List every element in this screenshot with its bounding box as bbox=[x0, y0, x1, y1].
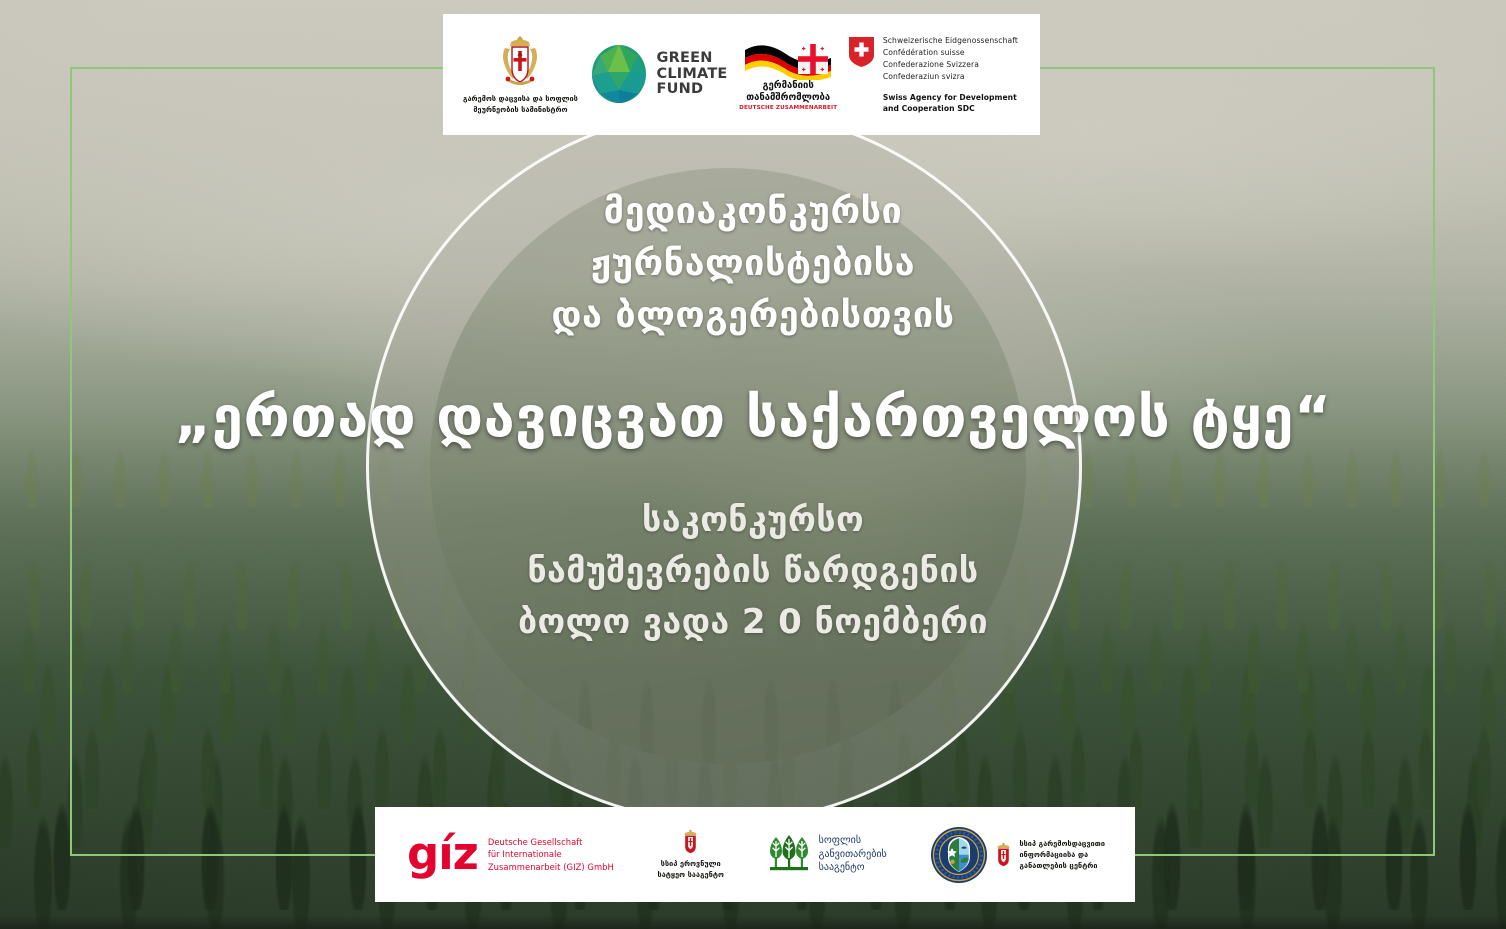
three-trees-icon bbox=[768, 835, 810, 875]
deadline-line2: ნამუშევრების წარდგენის bbox=[0, 546, 1506, 597]
gcf-line2: CLIMATE bbox=[657, 67, 728, 82]
logo-green-climate-fund: GREEN CLIMATE FUND bbox=[590, 44, 728, 106]
ministry-caption-line1: გარემოს დაცვისა და სოფლის bbox=[463, 93, 578, 104]
kicker-text: მედიაკონკურსი ჟურნალისტებისა და ბლოგერებ… bbox=[0, 186, 1506, 341]
circular-seal-icon bbox=[930, 826, 988, 884]
swiss-text-block: Schweizerische Eidgenossenschaft Confédé… bbox=[883, 35, 1018, 115]
swiss-bold-line2: and Cooperation SDC bbox=[883, 103, 1018, 114]
logo-environmental-information-centre: სსიპ გარემოსდაცვითი ინფორმაციისა და განა… bbox=[930, 826, 1105, 884]
swiss-line1: Schweizerische Eidgenossenschaft bbox=[883, 35, 1018, 47]
logo-swiss-sdc: Schweizerische Eidgenossenschaft Confédé… bbox=[849, 35, 1018, 115]
ministry-caption: გარემოს დაცვისა და სოფლის მეურნეობის სამ… bbox=[463, 93, 578, 115]
env-caption-line3: განათლების ცენტრი bbox=[1019, 860, 1105, 871]
swiss-line3: Confederazione Svizzera bbox=[883, 59, 1018, 71]
kicker-line3: და ბლოგერებისთვის bbox=[0, 290, 1506, 342]
german-caption-line1: გერმანიის bbox=[746, 80, 830, 92]
swiss-cross-shield-icon bbox=[849, 37, 874, 67]
forestry-caption-line2: სატყეო სააგენტო bbox=[658, 869, 724, 880]
giz-line1: Deutsche Gesellschaft bbox=[488, 836, 614, 849]
georgia-coat-of-arms-icon bbox=[995, 842, 1012, 867]
rural-agency-caption: სოფლის განვითარების სააგენტო bbox=[819, 834, 887, 875]
headline-title: „ერთად დავიცვათ საქართველოს ტყე“ bbox=[0, 387, 1506, 449]
german-subcaption: DEUTSCHE ZUSAMMENARBEIT bbox=[739, 105, 837, 111]
logo-ministry-of-environment: გარემოს დაცვისა და სოფლის მეურნეობის სამ… bbox=[463, 34, 578, 115]
main-copy: მედიაკონკურსი ჟურნალისტებისა და ბლოგერებ… bbox=[0, 186, 1506, 648]
swiss-line4: Confederaziun svizra bbox=[883, 71, 1018, 83]
top-logo-bar: გარემოს დაცვისა და სოფლის მეურნეობის სამ… bbox=[443, 14, 1040, 135]
env-caption-line2: ინფორმაციისა და bbox=[1019, 849, 1105, 860]
background-bottom-shade bbox=[0, 915, 1506, 929]
env-caption-line1: სსიპ გარემოსდაცვითი bbox=[1019, 838, 1105, 849]
german-caption-line2: თანამშრომლობა bbox=[746, 92, 830, 104]
giz-caption: Deutsche Gesellschaft für Internationale… bbox=[488, 836, 614, 874]
german-georgian-flag-ribbon-icon bbox=[742, 38, 834, 80]
gcf-line1: GREEN bbox=[657, 51, 728, 66]
swiss-line2: Confédération suisse bbox=[883, 47, 1018, 59]
german-cooperation-caption: გერმანიის თანამშრომლობა bbox=[746, 80, 830, 104]
env-centre-caption: სსიპ გარემოსდაცვითი ინფორმაციისა და განა… bbox=[1019, 838, 1105, 871]
gcf-polygon-sphere-icon bbox=[590, 44, 648, 106]
giz-line2: für Internationale bbox=[488, 848, 614, 861]
swiss-bold-line1: Swiss Agency for Development bbox=[883, 92, 1018, 103]
giz-wordmark: gíz bbox=[407, 836, 478, 873]
georgia-coat-of-arms-icon bbox=[499, 34, 541, 88]
logo-german-cooperation: გერმანიის თანამშრომლობა DEUTSCHE ZUSAMME… bbox=[739, 38, 837, 111]
rural-caption-line2: განვითარების bbox=[819, 848, 887, 862]
deadline-text: საკონკურსო ნამუშევრების წარდგენის ბოლო ვ… bbox=[0, 495, 1506, 648]
rural-caption-line1: სოფლის bbox=[819, 834, 887, 848]
giz-line3: Zusammenarbeit (GIZ) GmbH bbox=[488, 861, 614, 874]
forestry-caption-line1: სსიპ ეროვნული bbox=[658, 858, 724, 869]
bottom-logo-bar: gíz Deutsche Gesellschaft für Internatio… bbox=[375, 807, 1135, 902]
georgia-coat-of-arms-icon bbox=[682, 829, 699, 854]
swiss-languages: Schweizerische Eidgenossenschaft Confédé… bbox=[883, 35, 1018, 84]
logo-giz: gíz Deutsche Gesellschaft für Internatio… bbox=[407, 836, 614, 874]
gcf-line3: FUND bbox=[657, 82, 728, 97]
logo-national-forestry-agency: სსიპ ეროვნული სატყეო სააგენტო bbox=[658, 829, 724, 880]
kicker-line2: ჟურნალისტებისა bbox=[0, 238, 1506, 290]
swiss-agency-name: Swiss Agency for Development and Coopera… bbox=[883, 92, 1018, 115]
gcf-wordmark: GREEN CLIMATE FUND bbox=[657, 51, 728, 97]
poster-canvas: გარემოს დაცვისა და სოფლის მეურნეობის სამ… bbox=[0, 0, 1506, 929]
forestry-agency-caption: სსიპ ეროვნული სატყეო სააგენტო bbox=[658, 858, 724, 880]
logo-rural-development-agency: სოფლის განვითარების სააგენტო bbox=[768, 834, 887, 875]
deadline-line3: ბოლო ვადა 2 0 ნოემბერი bbox=[0, 597, 1506, 648]
kicker-line1: მედიაკონკურსი bbox=[0, 186, 1506, 238]
rural-caption-line3: სააგენტო bbox=[819, 861, 887, 875]
ministry-caption-line2: მეურნეობის სამინისტრო bbox=[463, 104, 578, 115]
deadline-line1: საკონკურსო bbox=[0, 495, 1506, 546]
